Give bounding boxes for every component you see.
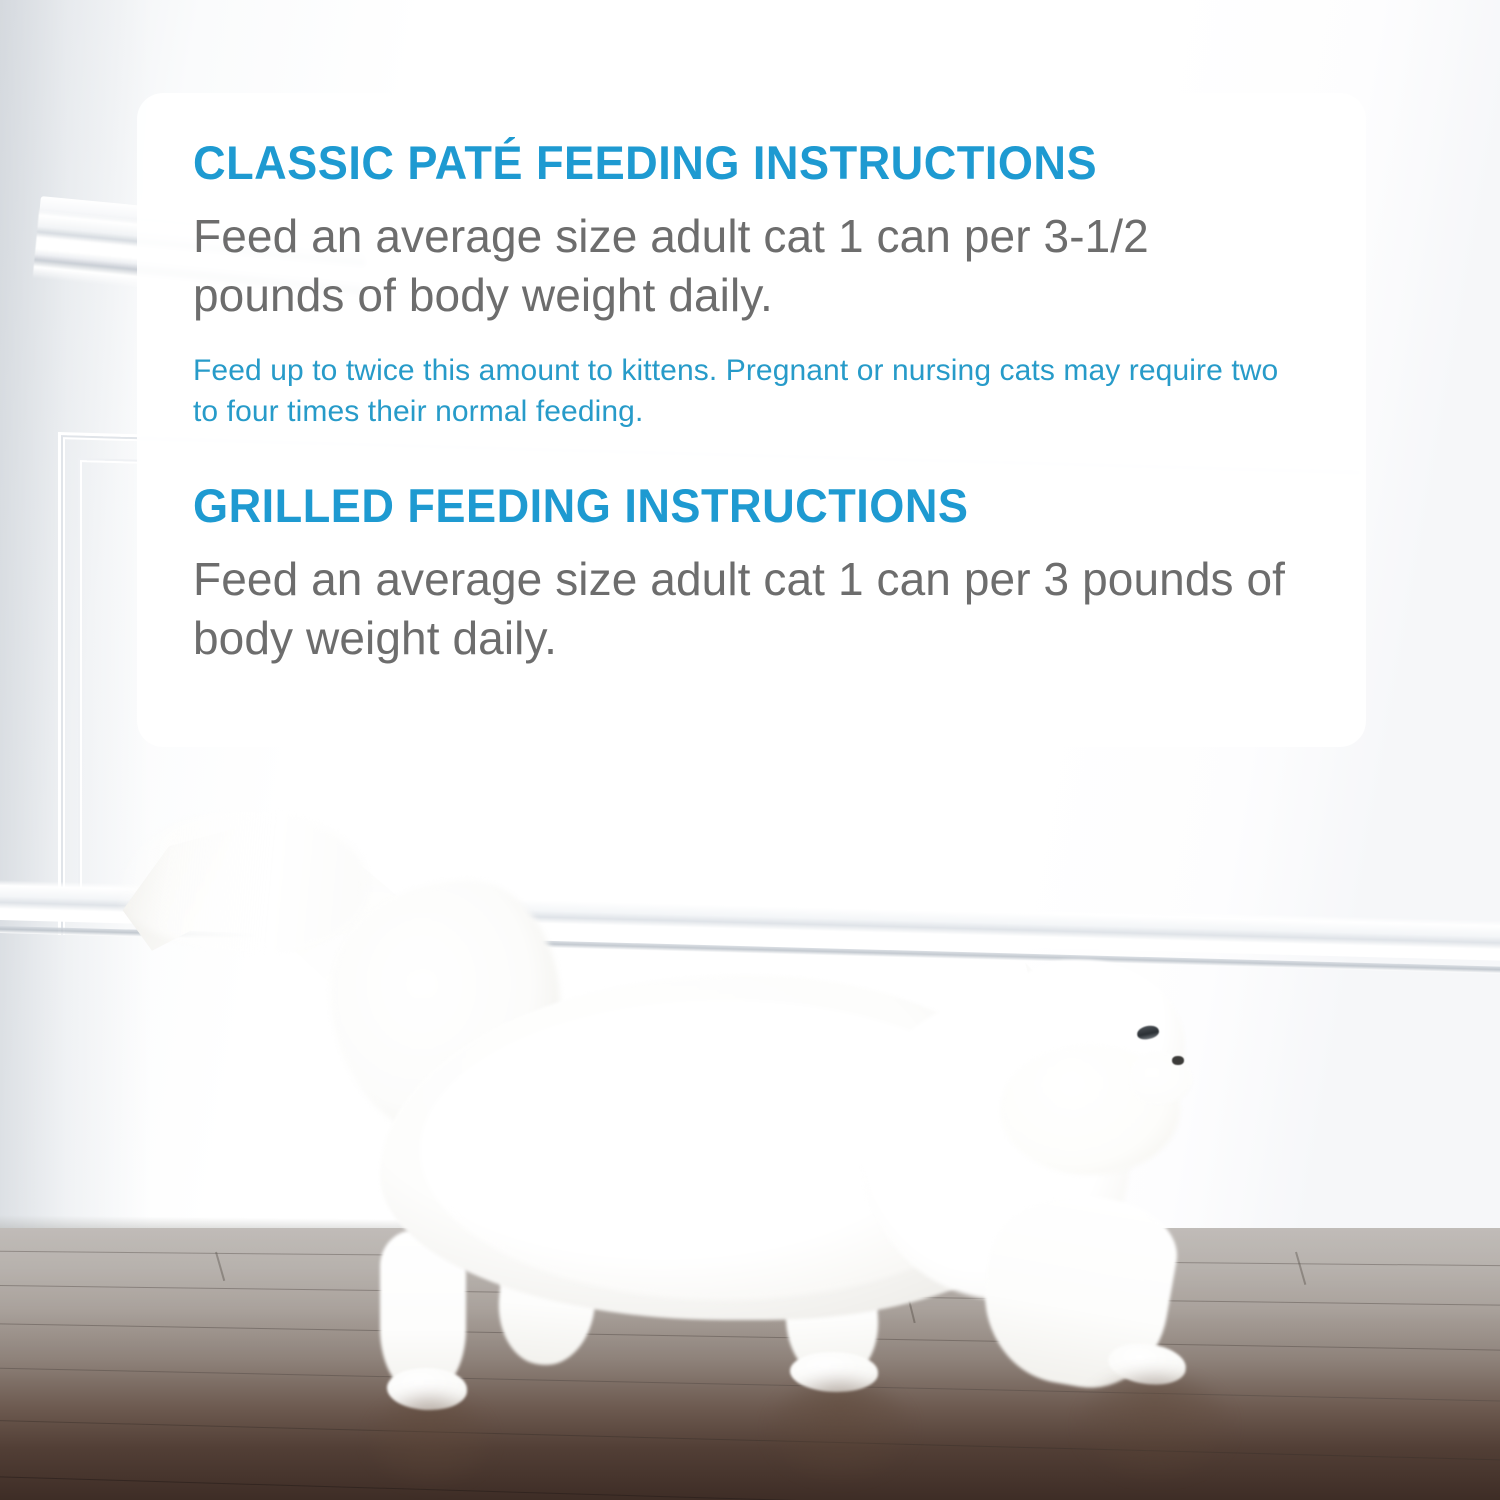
wood-floor [0, 1228, 1500, 1500]
product-feeding-instructions-image: CLASSIC PATÉ FEEDING INSTRUCTIONS Feed a… [0, 0, 1500, 1500]
classic-pate-heading: CLASSIC PATÉ FEEDING INSTRUCTIONS [193, 138, 1265, 187]
section-spacer [193, 433, 1310, 481]
classic-pate-body-text: Feed an average size adult cat 1 can per… [193, 207, 1310, 325]
cat-paw-reflection [1080, 1376, 1230, 1476]
feeding-instructions-card: CLASSIC PATÉ FEEDING INSTRUCTIONS Feed a… [137, 93, 1366, 747]
cat-paw-reflection [770, 1382, 910, 1477]
classic-pate-note-text: Feed up to twice this amount to kittens.… [193, 351, 1310, 433]
cat-paw-reflection [370, 1398, 490, 1483]
grilled-heading: GRILLED FEEDING INSTRUCTIONS [193, 481, 1265, 530]
grilled-body-text: Feed an average size adult cat 1 can per… [193, 550, 1310, 668]
